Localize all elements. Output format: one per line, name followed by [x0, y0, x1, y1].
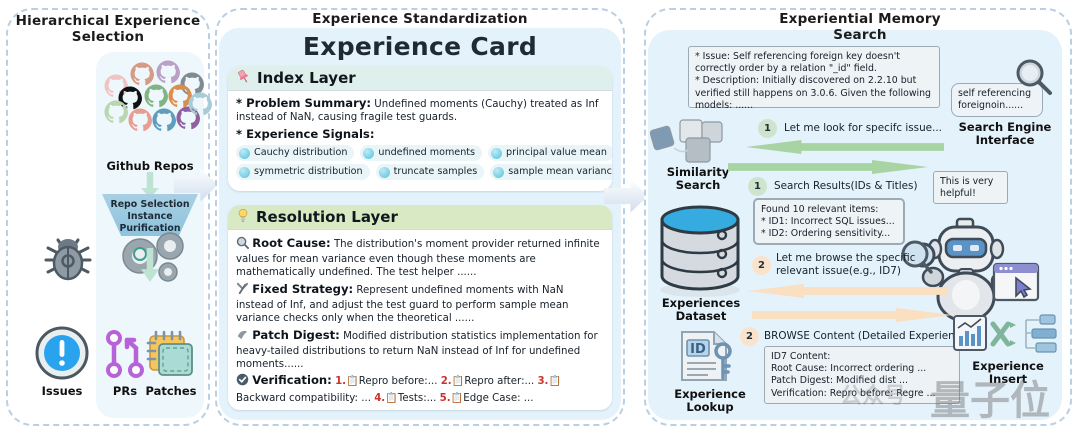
- github-repo-avatar: [128, 108, 152, 132]
- github-repos-label: Github Repos: [100, 160, 200, 173]
- signal-dot-icon: [379, 167, 390, 178]
- issues-label: Issues: [34, 385, 90, 398]
- signal-pill[interactable]: truncate samples: [376, 164, 485, 180]
- experience-lookup-label: Experience Lookup: [662, 388, 758, 414]
- verification-num: 5.: [440, 393, 451, 404]
- signal-label: truncate samples: [394, 166, 478, 178]
- fixed-strategy-key: Fixed Strategy:: [252, 282, 353, 296]
- index-layer-header: Index Layer: [228, 66, 612, 91]
- patches-label: Patches: [142, 385, 200, 398]
- issues-icon: [35, 326, 89, 380]
- step-2-up-text: Let me browse the specific relevant issu…: [776, 252, 976, 278]
- verification-text: Repro before:...: [359, 376, 438, 387]
- index-layer-body: * Problem Summary: Undefined moments (Ca…: [228, 91, 612, 183]
- puzzle-icon: [650, 118, 746, 166]
- similarity-search-label-line2: Search: [650, 179, 746, 192]
- step-badge-2-up: 2: [752, 256, 771, 275]
- experience-signals-key: * Experience Signals:: [236, 127, 604, 142]
- step-badge-1-down: 1: [748, 177, 767, 196]
- signal-label: undefined moments: [378, 147, 475, 159]
- github-repo-avatar: [144, 84, 168, 108]
- step-2-up-text-line2: relevant issue(e.g., ID7): [776, 265, 976, 278]
- signal-dot-icon: [493, 167, 504, 178]
- svg-text:ID: ID: [690, 342, 706, 357]
- patch-digest-key: Patch Digest:: [252, 328, 340, 342]
- doc-icon: 📋: [346, 376, 359, 387]
- resolution-layer-header: Resolution Layer: [228, 205, 612, 230]
- verification-text: Repro after:...: [464, 376, 534, 387]
- verification-text: Backward compatibility: ...: [236, 393, 371, 404]
- problem-summary-key: * Problem Summary:: [236, 96, 371, 110]
- search-magnifier-icon: [1013, 56, 1053, 96]
- verification-num: 3.: [537, 376, 548, 387]
- browser-window-icon: [992, 262, 1040, 304]
- step-badge-2-down: 2: [740, 327, 759, 346]
- signal-dot-icon: [239, 167, 250, 178]
- signal-label: principal value mean: [506, 147, 607, 159]
- resolution-layer-heading: Resolution Layer: [256, 208, 398, 226]
- github-repo-avatar: [156, 60, 180, 84]
- verification-num: 1.: [335, 376, 346, 387]
- verification-key: Verification:: [252, 373, 332, 387]
- panel-left-title-line2: Selection: [10, 30, 206, 46]
- lightbulb-icon: [236, 208, 250, 227]
- experience-insert-label: Experience Insert: [960, 360, 1056, 386]
- wrench-icon: [236, 287, 252, 298]
- experience-card-title: Experience Card: [219, 32, 621, 61]
- root-cause-row: Root Cause: The distribution's moment pr…: [236, 236, 604, 279]
- resolution-layer-body: Root Cause: The distribution's moment pr…: [228, 230, 612, 410]
- panel-center-title: Experience Standardization: [215, 12, 625, 28]
- index-layer-card: Index Layer * Problem Summary: Undefined…: [228, 66, 612, 191]
- step-2-up-text-line1: Let me browse the specific: [776, 252, 976, 265]
- verification-text: Edge Case: ...: [463, 393, 533, 404]
- problem-summary-row: * Problem Summary: Undefined moments (Ca…: [236, 96, 604, 124]
- verification-row: Verification: 1.📋Repro before:... 2.📋Rep…: [236, 372, 604, 407]
- experience-insert-label-line2: Insert: [960, 373, 1056, 386]
- resolution-layer-card: Resolution Layer Root Cause: The distrib…: [228, 205, 612, 410]
- search-results-bubble: Found 10 relevant items: * ID1: Incorrec…: [753, 198, 905, 245]
- signal-dot-icon: [363, 148, 374, 159]
- figure-root: Hierarchical Experience Selection Github…: [0, 0, 1080, 434]
- github-repo-avatar: [188, 92, 212, 116]
- experience-lookup-icon: ID: [676, 330, 740, 384]
- github-repo-avatar: [104, 100, 128, 124]
- robot-speech-bubble: This is very helpful!: [933, 171, 1008, 204]
- doc-icon: 📋: [548, 376, 561, 387]
- magnifier-icon: [236, 241, 252, 252]
- signal-label: symmetric distribution: [254, 166, 363, 178]
- prs-icon: [103, 328, 147, 378]
- patch-icon: [236, 333, 252, 344]
- index-layer-heading: Index Layer: [257, 69, 356, 87]
- doc-icon: 📋: [452, 376, 465, 387]
- experiences-dataset-label-line2: Dataset: [648, 310, 754, 323]
- experiences-dataset-label: Experiences Dataset: [648, 297, 754, 323]
- github-repo-avatar: [130, 62, 154, 86]
- signal-pill[interactable]: sample mean variance: [490, 164, 612, 180]
- signal-pill[interactable]: symmetric distribution: [236, 164, 370, 180]
- signal-pill[interactable]: undefined moments: [360, 145, 482, 161]
- check-circle-icon: [236, 378, 252, 389]
- verification-num: 2.: [441, 376, 452, 387]
- panel-left-title: Hierarchical Experience Selection: [10, 14, 206, 46]
- panel-right-title-line1: Experiential Memory: [700, 12, 1020, 28]
- step-badge-1-up: 1: [758, 119, 777, 138]
- signal-row-1: Cauchy distribution undefined moments pr…: [236, 145, 604, 161]
- search-engine-label-line2: Interface: [950, 134, 1060, 147]
- verification-text: Tests:...: [398, 393, 437, 404]
- signal-label: Cauchy distribution: [254, 147, 347, 159]
- issue-bubble: * Issue: Self referencing foreign key do…: [688, 46, 940, 108]
- patch-digest-row: Patch Digest: Modified distribution stat…: [236, 328, 604, 371]
- patches-icon: [143, 326, 197, 380]
- experience-lookup-label-line2: Lookup: [662, 401, 758, 414]
- bug-icon: [40, 230, 96, 282]
- panel-right-title: Experiential Memory Search: [700, 12, 1020, 44]
- panel-right-title-line2: Search: [700, 28, 1020, 44]
- funnel-label-line1: Repo Selection: [96, 199, 204, 211]
- verification-num: 4.: [374, 393, 385, 404]
- github-repos-grid: [100, 58, 200, 136]
- signal-pill[interactable]: principal value mean: [488, 145, 612, 161]
- doc-icon: 📋: [385, 393, 398, 404]
- pushpin-icon: [236, 69, 251, 88]
- panel-left-title-line1: Hierarchical Experience: [10, 14, 206, 30]
- signal-pill[interactable]: Cauchy distribution: [236, 145, 354, 161]
- database-icon: [654, 198, 746, 298]
- signal-dot-icon: [491, 148, 502, 159]
- signal-dot-icon: [239, 148, 250, 159]
- signal-label: sample mean variance: [508, 166, 612, 178]
- github-repo-avatar: [152, 108, 176, 132]
- doc-icon: 📋: [451, 393, 464, 404]
- root-cause-key: Root Cause:: [252, 236, 330, 250]
- step-1-up-text: Let me look for specifc issue...: [784, 122, 984, 136]
- experience-insert-icon: [952, 312, 1058, 356]
- id7-content-bubble: ID7 Content: Root Cause: Incorrect order…: [764, 346, 960, 404]
- fixed-strategy-row: Fixed Strategy: Represent undefined mome…: [236, 282, 604, 325]
- signal-row-2: symmetric distribution truncate samples …: [236, 164, 604, 180]
